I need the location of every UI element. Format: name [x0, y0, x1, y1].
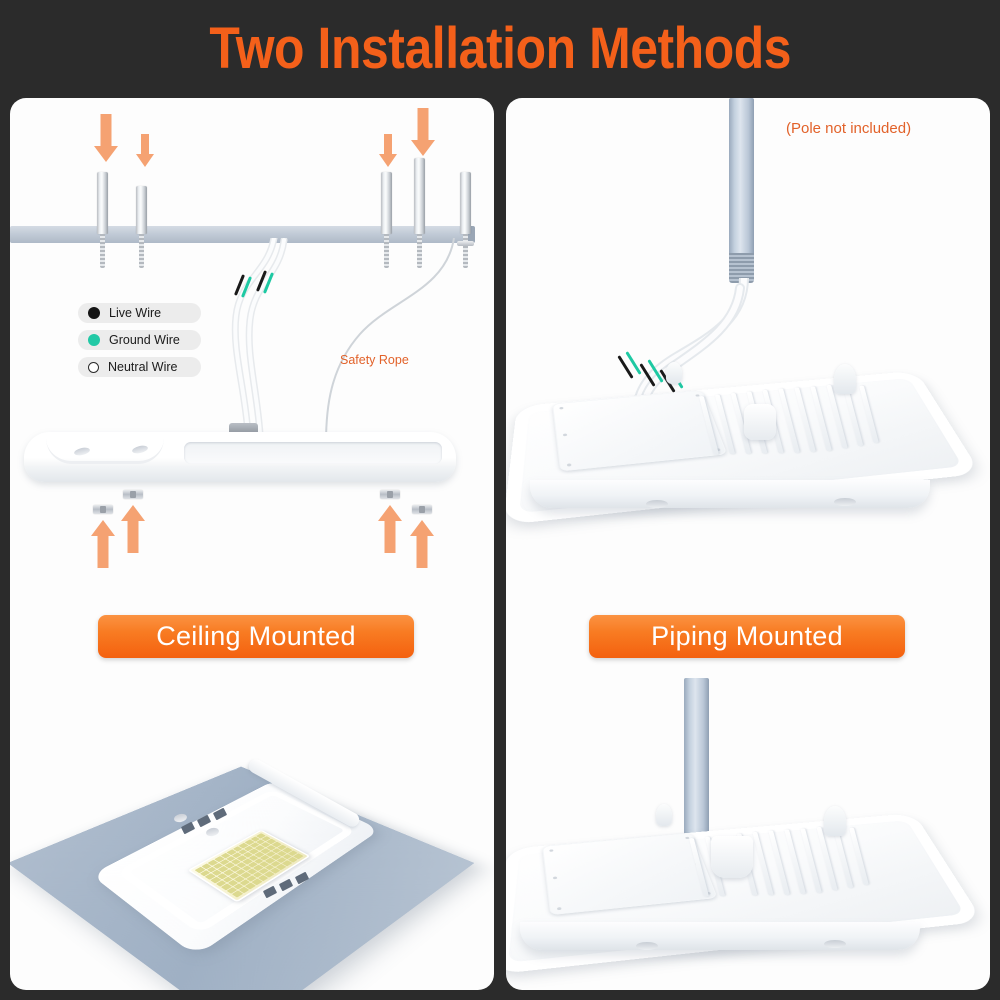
expansion-anchor	[97, 172, 108, 234]
wire-legend: Live Wire Ground Wire Neutral Wire	[78, 303, 201, 384]
pole-mounted-fixture	[506, 788, 956, 978]
arrow-down-icon	[379, 134, 397, 172]
legend-label: Ground Wire	[109, 333, 180, 347]
pole-not-included-note: (Pole not included)	[786, 120, 911, 137]
mount-bracket-arc	[46, 438, 164, 464]
badge-label: Piping Mounted	[651, 621, 843, 652]
mount-post	[824, 806, 846, 836]
panel-piping-mounted: (Pole not included)	[506, 98, 990, 990]
legend-label: Neutral Wire	[108, 360, 177, 374]
arrow-down-icon	[95, 114, 117, 164]
expansion-anchor	[136, 186, 147, 234]
expansion-anchor	[381, 172, 392, 234]
expansion-anchor	[460, 172, 471, 234]
fixture-front-edge	[520, 922, 920, 950]
safety-rope-label: Safety Rope	[340, 353, 409, 367]
page-header: Two Installation Methods	[0, 0, 1000, 96]
arrow-up-icon	[92, 520, 114, 568]
pole-mount-knuckle	[711, 836, 753, 878]
mount-post	[666, 362, 682, 384]
power-cable-bundle	[210, 238, 320, 438]
badge-piping-mounted[interactable]: Piping Mounted	[589, 615, 905, 658]
arrow-up-icon	[122, 505, 144, 553]
fixture-foot	[636, 942, 658, 950]
light-fixture-heatsink-view	[516, 348, 956, 528]
page-title: Two Installation Methods	[209, 15, 791, 82]
mount-post	[656, 804, 672, 826]
mount-post	[834, 364, 856, 394]
legend-label: Live Wire	[109, 306, 161, 320]
bracket-hole	[173, 813, 187, 824]
arrow-up-icon	[411, 520, 433, 568]
cable-entry-knuckle	[744, 404, 776, 440]
mounting-nut	[123, 490, 143, 499]
fixture-foot	[646, 500, 668, 508]
filled-teal-circle-icon	[88, 334, 100, 346]
mounting-nut	[412, 505, 432, 514]
arrow-down-icon	[136, 134, 154, 172]
mounting-nut	[93, 505, 113, 514]
fixture-foot	[824, 940, 846, 948]
hollow-circle-icon	[88, 362, 99, 373]
ceiling-installed-illustration	[16, 678, 486, 958]
mounting-pole	[729, 98, 754, 258]
fixture-foot	[834, 498, 856, 506]
arrow-down-icon	[412, 108, 434, 158]
light-fixture-side-view	[24, 432, 456, 482]
badge-ceiling-mounted[interactable]: Ceiling Mounted	[98, 615, 414, 658]
legend-item-neutral-wire: Neutral Wire	[78, 357, 201, 377]
expansion-anchor	[414, 158, 425, 234]
panel-ceiling-mounted: Live Wire Ground Wire Neutral Wire Safet…	[10, 98, 494, 990]
mounted-fixture	[114, 776, 372, 926]
arrow-up-icon	[379, 505, 401, 553]
filled-black-circle-icon	[88, 307, 100, 319]
mounting-nut	[380, 490, 400, 499]
legend-item-live-wire: Live Wire	[78, 303, 201, 323]
legend-item-ground-wire: Ground Wire	[78, 330, 201, 350]
fixture-front-edge	[530, 480, 930, 508]
badge-label: Ceiling Mounted	[156, 621, 356, 652]
